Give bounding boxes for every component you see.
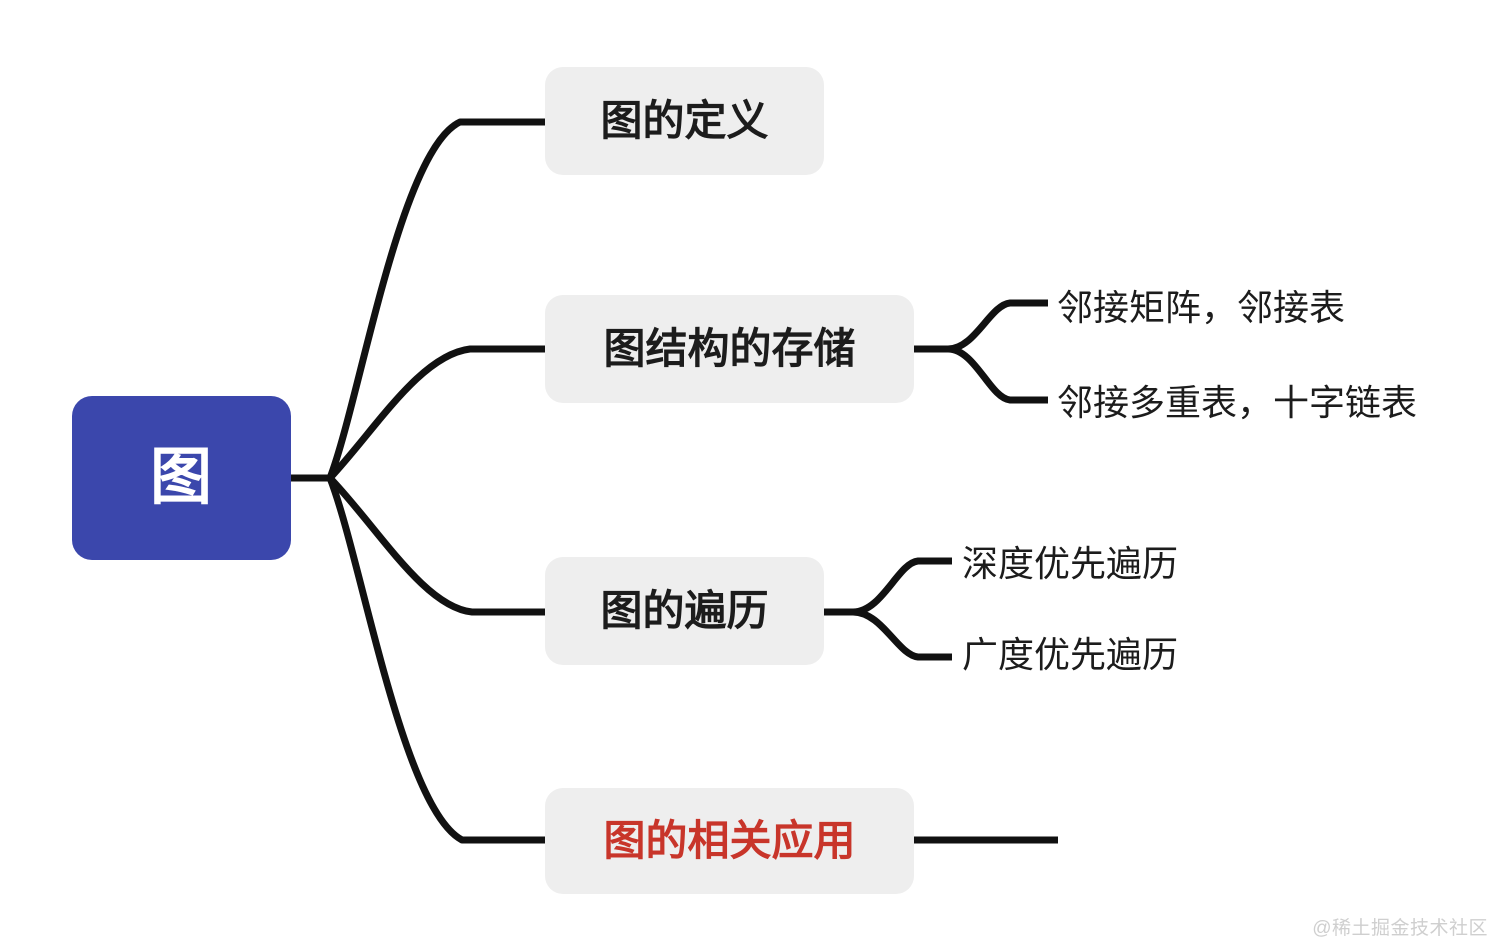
edge-root-to-branch-1 bbox=[330, 122, 545, 478]
mindmap-branch-node-1[interactable]: 图的定义 bbox=[545, 67, 824, 175]
edge-root-to-branch-2 bbox=[330, 349, 545, 478]
root-node-label: 图 bbox=[150, 447, 213, 509]
mindmap-leaf-node-storage-2[interactable]: 邻接多重表，十字链表 bbox=[1057, 385, 1417, 421]
mindmap-leaf-node-storage-1[interactable]: 邻接矩阵，邻接表 bbox=[1057, 290, 1345, 326]
branch-node-1-label: 图的定义 bbox=[600, 100, 768, 142]
edge-branch-2-child-1 bbox=[948, 303, 1048, 349]
branch-node-2-label: 图结构的存储 bbox=[603, 328, 855, 370]
mindmap-leaf-node-traversal-2[interactable]: 广度优先遍历 bbox=[962, 637, 1178, 673]
edge-branch-3-child-2 bbox=[853, 612, 952, 657]
edge-root-to-branch-4 bbox=[330, 478, 545, 840]
mindmap-root-node[interactable]: 图 bbox=[72, 396, 291, 560]
branch-node-3-label: 图的遍历 bbox=[600, 590, 768, 632]
edge-branch-3-child-1 bbox=[853, 561, 952, 612]
mindmap-canvas: 图 图的定义 图结构的存储 图的遍历 图的相关应用 邻接矩阵，邻接表 邻接多重表… bbox=[0, 0, 1512, 952]
edge-branch-2-child-2 bbox=[948, 349, 1048, 400]
mindmap-branch-node-2[interactable]: 图结构的存储 bbox=[545, 295, 914, 403]
watermark-label: @稀土掘金技术社区 bbox=[1312, 919, 1488, 938]
branch-node-4-label: 图的相关应用 bbox=[603, 820, 855, 862]
mindmap-branch-node-4[interactable]: 图的相关应用 bbox=[545, 788, 914, 894]
edge-root-to-branch-3 bbox=[330, 478, 545, 612]
mindmap-branch-node-3[interactable]: 图的遍历 bbox=[545, 557, 824, 665]
mindmap-leaf-node-traversal-1[interactable]: 深度优先遍历 bbox=[962, 546, 1178, 582]
